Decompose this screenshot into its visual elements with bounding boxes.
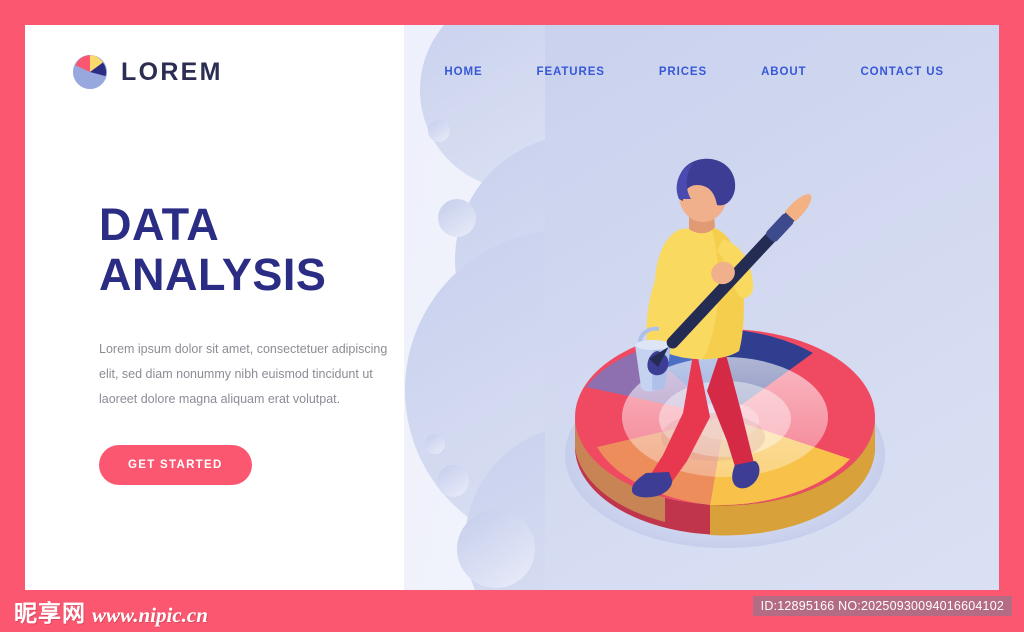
floating-dot-5 — [457, 510, 535, 588]
watermark-site-name: 昵享网 — [14, 603, 86, 626]
watermark-id-badge: ID:12895166 NO:20250930094016604102 — [753, 596, 1012, 616]
brand-name: LOREM — [121, 58, 223, 87]
hero-paragraph: Lorem ipsum dolor sit amet, consectetuer… — [99, 337, 399, 412]
page-root: LOREM HOME FEATURES PRICES ABOUT CONTACT… — [0, 0, 1024, 632]
hero-section: DATA ANALYSIS Lorem ipsum dolor sit amet… — [99, 200, 429, 485]
page-title-line-1: DATA — [99, 199, 219, 250]
page-title: DATA ANALYSIS — [99, 200, 429, 301]
nav-item-contact-us[interactable]: CONTACT US — [833, 66, 971, 78]
nav-item-prices[interactable]: PRICES — [632, 66, 734, 78]
main-navigation: HOME FEATURES PRICES ABOUT CONTACT US — [417, 66, 971, 78]
floating-dot-4 — [437, 465, 469, 497]
page-title-line-2: ANALYSIS — [99, 250, 429, 300]
floating-dot-2 — [438, 199, 476, 237]
watermark-site-url: www.nipic.cn — [92, 605, 208, 626]
floating-dot-1 — [428, 120, 450, 142]
brand-logo[interactable]: LOREM — [73, 55, 223, 89]
site-header: LOREM HOME FEATURES PRICES ABOUT CONTACT… — [25, 25, 999, 119]
get-started-button[interactable]: GET STARTED — [99, 445, 252, 485]
nav-item-home[interactable]: HOME — [417, 66, 509, 78]
nav-item-about[interactable]: ABOUT — [734, 66, 833, 78]
site-watermark: 昵享网 www.nipic.cn — [14, 603, 208, 626]
nav-item-features[interactable]: FEATURES — [510, 66, 632, 78]
hero-illustration — [545, 155, 885, 555]
pie-chart-icon — [73, 55, 107, 89]
landing-page-canvas: LOREM HOME FEATURES PRICES ABOUT CONTACT… — [25, 25, 999, 590]
